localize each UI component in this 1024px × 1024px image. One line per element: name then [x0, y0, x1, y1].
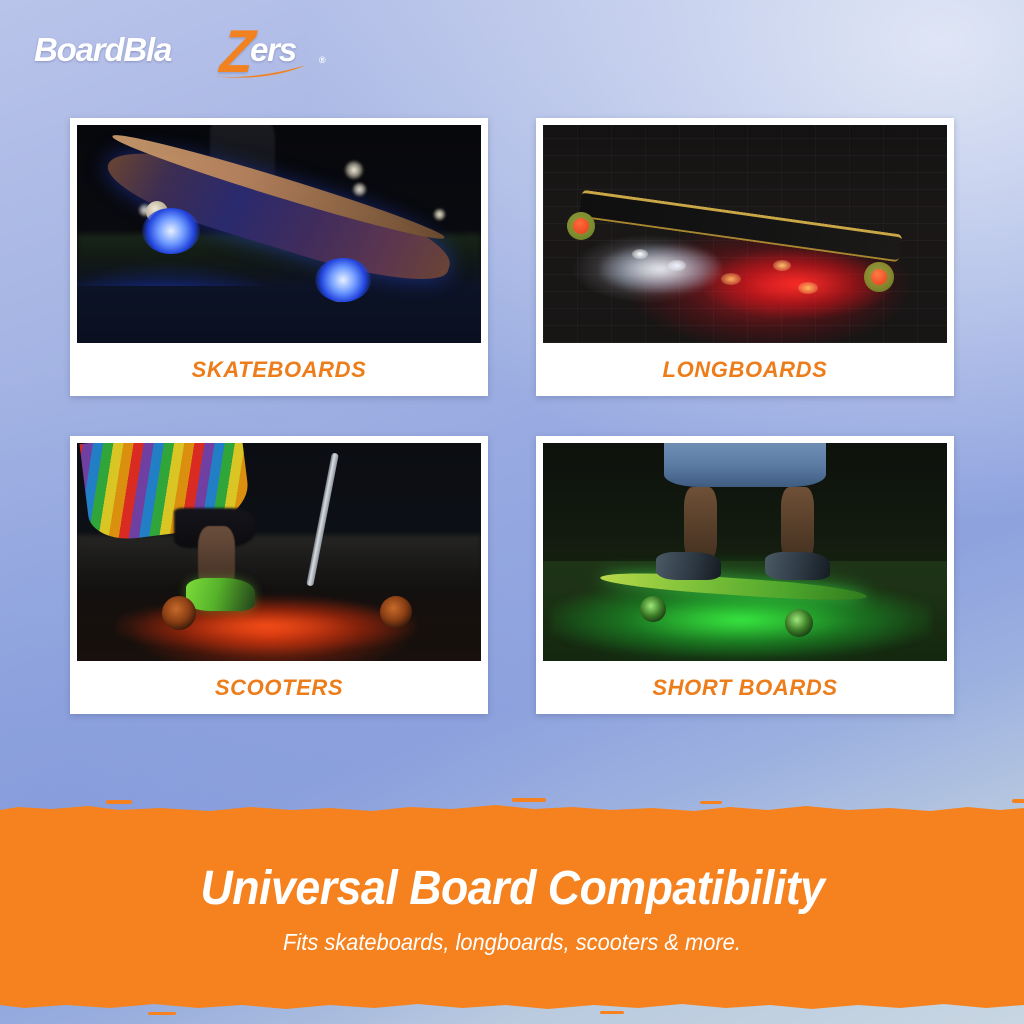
photo-skateboard	[77, 125, 481, 343]
card-caption-longboards: LONGBOARDS	[543, 343, 947, 396]
banner-paint-fleck	[512, 798, 546, 802]
product-use-case-grid: SKATEBOARDS LONGBOARDS	[70, 118, 954, 714]
photo-rider-shoe	[186, 578, 255, 611]
card-longboards[interactable]: LONGBOARDS	[536, 118, 954, 396]
banner-paint-fleck	[1012, 799, 1024, 803]
photo-bokeh-light	[433, 208, 446, 221]
photo-led-glow	[142, 208, 200, 254]
photo-rider-shoe	[765, 552, 830, 580]
banner-subtitle: Fits skateboards, longboards, scooters &…	[283, 929, 741, 956]
photo-scooter	[77, 443, 481, 661]
photo-denim-shorts	[664, 443, 826, 487]
card-caption-scooters: SCOOTERS	[77, 661, 481, 714]
compatibility-banner: Universal Board Compatibility Fits skate…	[0, 812, 1024, 1002]
photo-led-dot	[721, 273, 741, 285]
brand-logo[interactable]: BoardBla Z ers ®	[34, 27, 334, 79]
photo-ground	[77, 286, 481, 343]
photo-led-glow	[315, 258, 371, 302]
card-scooters[interactable]: SCOOTERS	[70, 436, 488, 714]
photo-background-buildings	[77, 535, 481, 592]
banner-headline: Universal Board Compatibility	[200, 864, 824, 914]
photo-rider-shoe	[656, 552, 721, 580]
registered-trademark-icon: ®	[319, 55, 326, 65]
logo-wordmark-primary: BoardBla	[34, 31, 171, 69]
photo-longboard	[543, 125, 947, 343]
photo-short-board	[543, 443, 947, 661]
logo-swoosh-icon	[210, 63, 330, 79]
card-skateboards[interactable]: SKATEBOARDS	[70, 118, 488, 396]
photo-led-glow-white	[600, 245, 721, 293]
photo-wheel	[785, 609, 813, 637]
photo-wheel	[640, 596, 666, 622]
photo-rider-leg	[781, 487, 813, 561]
photo-bokeh-light	[344, 160, 364, 180]
banner-paint-fleck	[106, 800, 132, 804]
banner-text-block: Universal Board Compatibility Fits skate…	[0, 812, 1024, 1002]
photo-wheel	[380, 596, 412, 628]
banner-paint-fleck	[600, 1011, 624, 1014]
photo-led-dot	[798, 282, 818, 294]
card-caption-skateboards: SKATEBOARDS	[77, 343, 481, 396]
card-caption-short-boards: SHORT BOARDS	[543, 661, 947, 714]
photo-rider-leg	[684, 487, 716, 561]
photo-wheel	[162, 596, 196, 630]
banner-paint-fleck	[700, 801, 722, 804]
photo-bokeh-light	[352, 182, 367, 197]
card-short-boards[interactable]: SHORT BOARDS	[536, 436, 954, 714]
banner-paint-fleck	[148, 1012, 176, 1015]
